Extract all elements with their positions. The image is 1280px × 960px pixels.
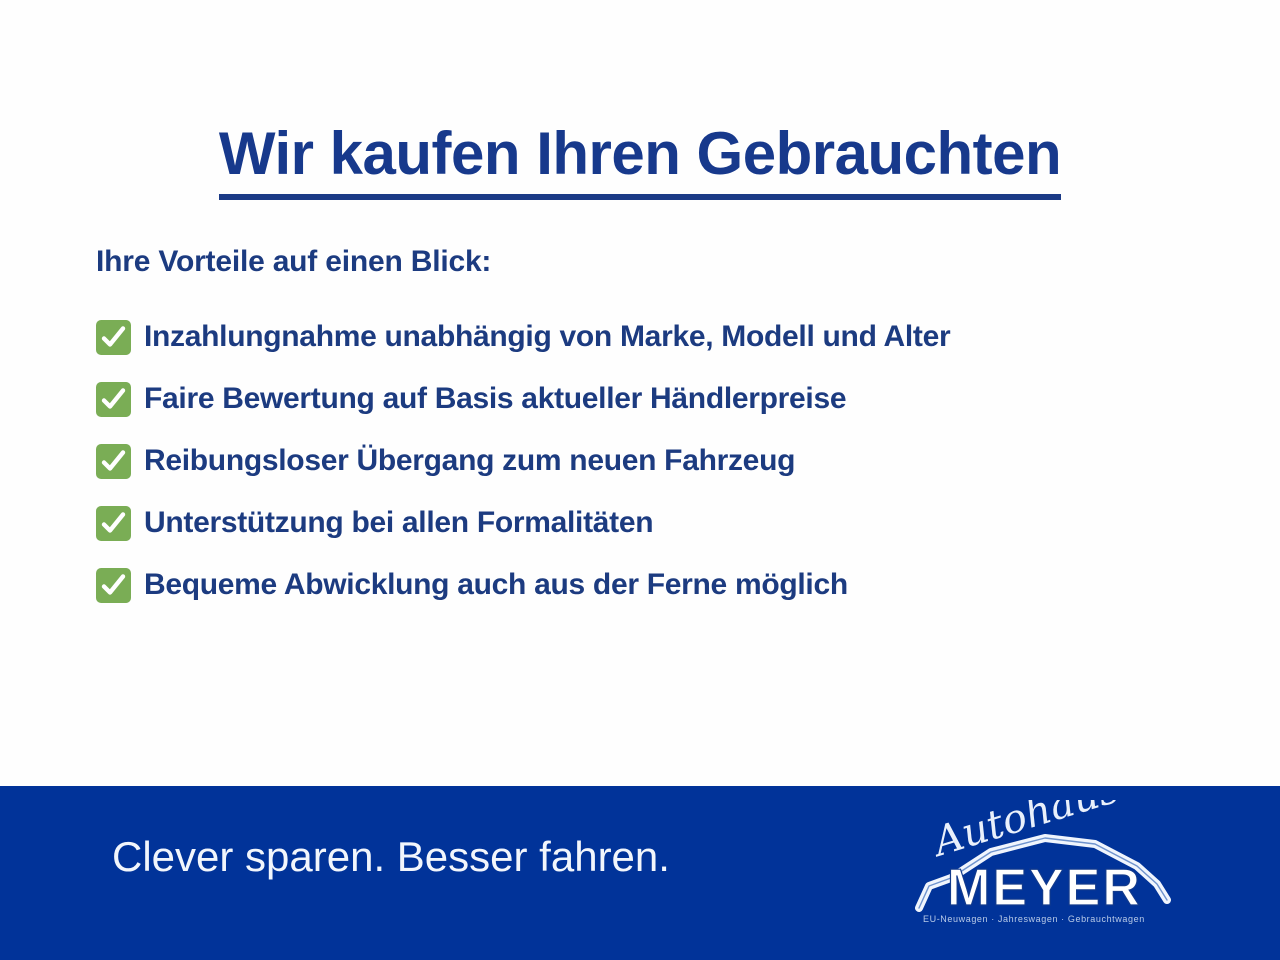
- list-item: Unterstützung bei allen Formalitäten: [96, 492, 1246, 554]
- list-item: Reibungsloser Übergang zum neuen Fahrzeu…: [96, 430, 1246, 492]
- benefits-subtitle: Ihre Vorteile auf einen Blick:: [96, 245, 491, 279]
- check-icon: [96, 506, 131, 541]
- check-icon: [96, 382, 131, 417]
- logo-wordmark: MEYER: [947, 859, 1142, 917]
- check-icon: [96, 444, 131, 479]
- logo-script-text: Autohaus: [925, 800, 1125, 867]
- list-item-label: Inzahlungnahme unabhängig von Marke, Mod…: [144, 320, 950, 354]
- promo-page: Wir kaufen Ihren Gebrauchten Ihre Vortei…: [0, 0, 1280, 960]
- footer-tagline: Clever sparen. Besser fahren.: [112, 833, 670, 881]
- list-item-label: Bequeme Abwicklung auch aus der Ferne mö…: [144, 568, 848, 602]
- list-item-label: Reibungsloser Übergang zum neuen Fahrzeu…: [144, 444, 795, 478]
- list-item: Inzahlungnahme unabhängig von Marke, Mod…: [96, 306, 1246, 368]
- list-item-label: Unterstützung bei allen Formalitäten: [144, 506, 653, 540]
- logo-subline: EU-Neuwagen · Jahreswagen · Gebrauchtwag…: [923, 914, 1145, 924]
- benefits-list: Inzahlungnahme unabhängig von Marke, Mod…: [96, 306, 1246, 616]
- dealer-logo: Autohaus MEYER EU-Neuwagen · Jahreswagen…: [905, 800, 1195, 930]
- page-title-container: Wir kaufen Ihren Gebrauchten: [0, 82, 1280, 240]
- list-item: Bequeme Abwicklung auch aus der Ferne mö…: [96, 554, 1246, 616]
- check-icon: [96, 568, 131, 603]
- list-item: Faire Bewertung auf Basis aktueller Händ…: [96, 368, 1246, 430]
- footer-banner: Clever sparen. Besser fahren. Autohaus M…: [0, 786, 1280, 960]
- list-item-label: Faire Bewertung auf Basis aktueller Händ…: [144, 382, 846, 416]
- check-icon: [96, 320, 131, 355]
- page-title: Wir kaufen Ihren Gebrauchten: [219, 122, 1061, 200]
